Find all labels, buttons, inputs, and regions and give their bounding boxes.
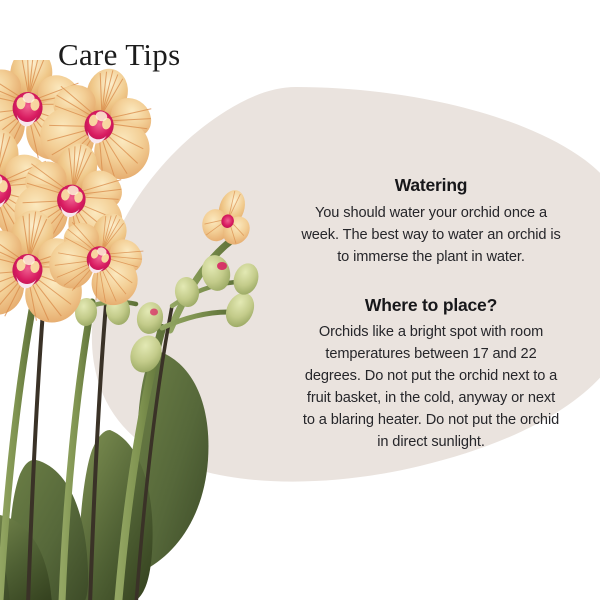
care-tips-content: Watering You should water your orchid on… — [300, 174, 562, 453]
orchid-buds — [48, 252, 262, 377]
section-heading-where-to-place: Where to place? — [300, 294, 562, 318]
orchid-plant-image — [0, 60, 320, 600]
section-body-where-to-place: Orchids like a bright spot with room tem… — [300, 321, 562, 453]
page-title: Care Tips — [58, 38, 180, 72]
orchid-leaves — [0, 350, 208, 600]
orchid-stems — [0, 240, 236, 600]
care-section-watering: Watering You should water your orchid on… — [300, 174, 562, 268]
orchid-blooms — [0, 60, 174, 334]
section-heading-watering: Watering — [300, 174, 562, 198]
orchid-bloom-opening — [192, 182, 264, 256]
care-tips-card: Care Tips — [0, 0, 600, 600]
section-body-watering: You should water your orchid once a week… — [300, 202, 562, 268]
care-section-where-to-place: Where to place? Orchids like a bright sp… — [300, 294, 562, 454]
